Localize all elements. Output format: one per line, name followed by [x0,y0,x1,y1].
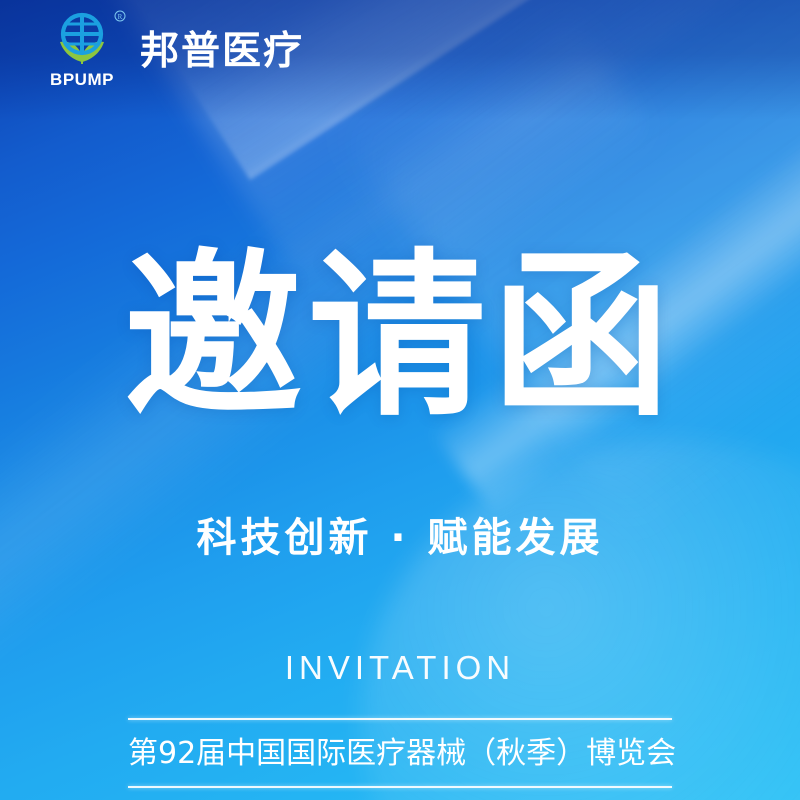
svg-text:R: R [118,13,123,21]
registered-trademark-icon: R [114,10,126,22]
page-title: 邀请函 [0,248,800,426]
divider-bottom [128,786,672,788]
brand-header: BPUMP R 邦普医疗 [44,12,304,88]
company-logo: BPUMP R [44,12,120,88]
poster-footer: 第92届中国国际医疗器械（秋季）博览会 [128,718,672,788]
logo-wordmark: BPUMP [50,71,114,88]
brand-name-cn: 邦普医疗 [140,32,304,71]
invitation-english-label: INVITATION [0,648,800,688]
invitation-poster: BPUMP R 邦普医疗 邀请函 科技创新 · 赋能发展 INVITATION … [0,0,800,800]
poster-content: 邀请函 科技创新 · 赋能发展 INVITATION [0,0,800,800]
event-name: 第92届中国国际医疗器械（秋季）博览会 [128,720,672,786]
poster-subtitle: 科技创新 · 赋能发展 [0,512,800,564]
bpump-circle-leaf-logo-icon [48,12,116,70]
